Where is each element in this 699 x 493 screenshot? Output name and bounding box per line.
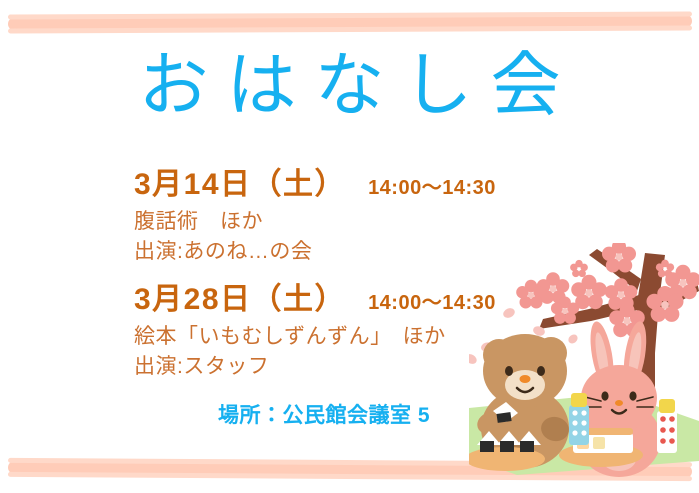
event-headline: 3月28日（土） 14:00〜14:30 [134,283,564,318]
thermos-blue [569,393,589,445]
event-headline: 3月14日（土） 14:00〜14:30 [134,168,564,203]
top-divider-rule [8,15,692,31]
event-entry: 3月14日（土） 14:00〜14:30 腹話術 ほか 出演:あのね…の会 [134,168,564,267]
event-program: 絵本「いもむしずんずん」 ほか [134,322,564,352]
event-date: 3月14日（土） [134,168,346,203]
poster-canvas: おはなし会 3月14日（土） 14:00〜14:30 腹話術 ほか 出演:あのね… [0,0,699,493]
page-title: おはなし会 [0,50,699,120]
bottom-divider-rule [8,461,692,478]
event-date: 3月28日（土） [134,283,346,318]
event-performer: 出演:あのね…の会 [134,237,564,267]
thermos-red [657,399,677,453]
venue-label: 場所：公民館会議室 5 [218,399,564,429]
event-time: 14:00〜14:30 [368,286,496,315]
event-program: 腹話術 ほか [134,207,564,237]
event-content: 3月14日（土） 14:00〜14:30 腹話術 ほか 出演:あのね…の会 3月… [134,168,564,429]
event-time: 14:00〜14:30 [368,171,496,200]
event-performer: 出演:スタッフ [134,352,564,382]
event-entry: 3月28日（土） 14:00〜14:30 絵本「いもむしずんずん」 ほか 出演:… [134,283,564,382]
rabbit-character [569,320,666,477]
